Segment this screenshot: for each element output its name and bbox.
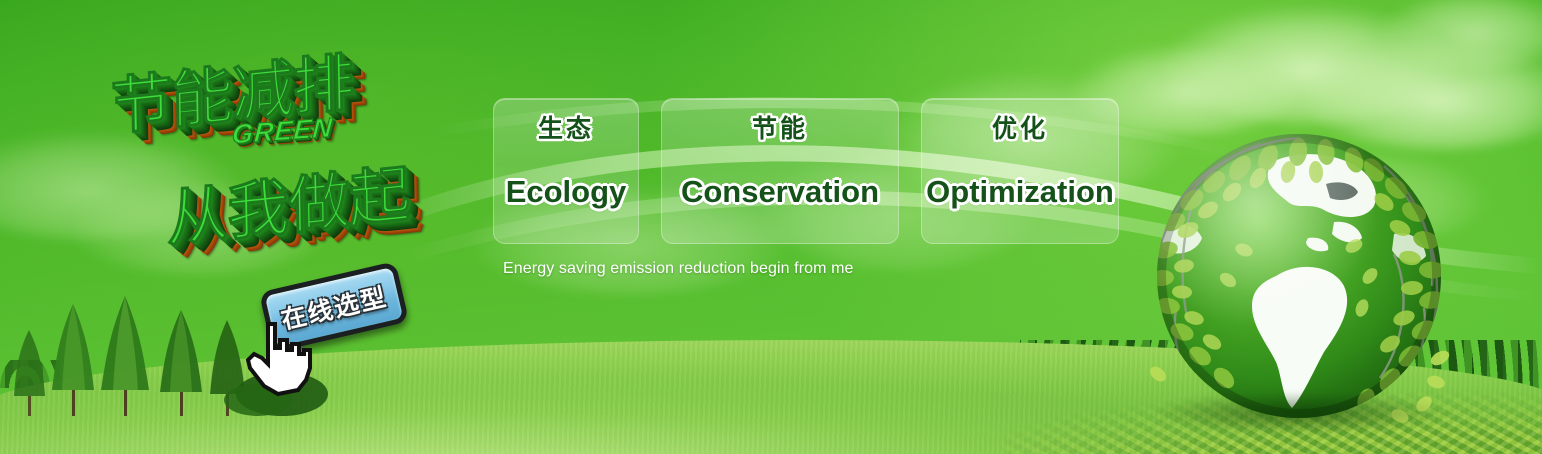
card-title-en: Optimization	[926, 176, 1114, 207]
feature-card-ecology[interactable]: 生态 Ecology	[493, 98, 639, 244]
cloud-icon	[1380, 0, 1542, 70]
earth-globe	[1148, 126, 1450, 428]
feature-card-group: 生态 Ecology 节能 Conservation 优化 Optimizati…	[493, 98, 1119, 244]
tagline: Energy saving emission reduction begin f…	[503, 260, 854, 278]
cloud-icon	[1160, 4, 1460, 124]
pointing-hand-cursor-icon	[238, 318, 324, 398]
globe-shadow	[1154, 392, 1446, 434]
globe-graphic	[1148, 126, 1450, 428]
hero-logo: 节能减排 GREEN 从我做起	[104, 38, 476, 268]
feature-card-conservation[interactable]: 节能 Conservation	[661, 98, 899, 244]
logo-line-2: 从我做起	[166, 143, 410, 259]
logo-subtitle: GREEN	[231, 112, 334, 150]
green-energy-banner: 节能减排 GREEN 从我做起 在线选型 生态 Ecology 节能 Conse…	[0, 0, 1542, 454]
card-title-en: Conservation	[681, 176, 879, 207]
card-title-cn: 节能	[752, 117, 808, 142]
card-title-en: Ecology	[506, 176, 627, 207]
card-title-cn: 生态	[538, 117, 594, 142]
feature-card-optimization[interactable]: 优化 Optimization	[921, 98, 1119, 244]
card-title-cn: 优化	[992, 117, 1048, 142]
